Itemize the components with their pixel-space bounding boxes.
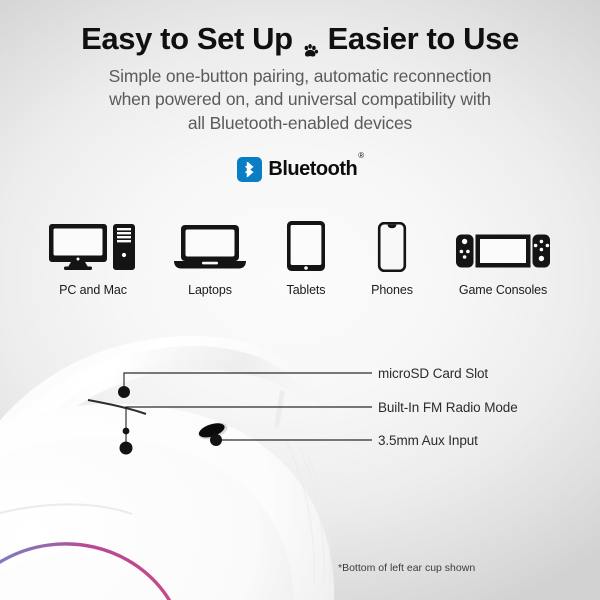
device-item-game-consoles: Game Consoles <box>436 218 570 297</box>
device-item-phones: Phones <box>348 218 436 297</box>
bluetooth-badge: Bluetooth® <box>0 157 600 182</box>
page-title-part-1: Easy to Set Up <box>81 22 292 56</box>
subtitle-line-1: Simple one-button pairing, automatic rec… <box>0 65 600 88</box>
callout-label-aux-input: 3.5mm Aux Input <box>378 433 478 448</box>
bluetooth-icon <box>237 157 262 182</box>
paw-print-icon <box>302 32 319 49</box>
laptop-icon <box>170 218 250 272</box>
desktop-monitor-and-tower-icon <box>47 218 139 272</box>
device-label-laptops: Laptops <box>188 283 232 297</box>
device-label-tablets: Tablets <box>287 283 326 297</box>
callout-label-fm-radio-mode: Built-In FM Radio Mode <box>378 400 518 415</box>
compatible-devices-row: PC and Mac Laptops <box>0 218 600 297</box>
callout-label-microsd-card-slot: microSD Card Slot <box>378 366 488 381</box>
device-label-phones: Phones <box>371 283 413 297</box>
device-item-tablets: Tablets <box>264 218 348 297</box>
product-feature-infographic: Easy to Set Up Easier to Use Simple one-… <box>0 0 600 600</box>
subtitle-line-3: all Bluetooth-enabled devices <box>0 112 600 135</box>
footnote-disclaimer: *Bottom of left ear cup shown <box>338 562 475 574</box>
callout-annotations: microSD Card Slot Built-In FM Radio Mode… <box>0 330 600 600</box>
device-label-pc-and-mac: PC and Mac <box>59 283 127 297</box>
bluetooth-trademark-symbol: ® <box>358 151 363 160</box>
page-title: Easy to Set Up Easier to Use <box>0 22 600 56</box>
device-item-laptops: Laptops <box>156 218 264 297</box>
subtitle-line-2: when powered on, and universal compatibi… <box>0 88 600 111</box>
bluetooth-wordmark-text: Bluetooth <box>268 158 357 180</box>
bluetooth-wordmark: Bluetooth® <box>268 158 362 181</box>
device-item-pc-and-mac: PC and Mac <box>30 218 156 297</box>
tablet-icon <box>285 218 327 272</box>
handheld-game-console-icon <box>455 218 551 272</box>
page-title-part-2: Easier to Use <box>328 22 519 56</box>
device-label-game-consoles: Game Consoles <box>459 283 547 297</box>
smartphone-icon <box>377 218 407 272</box>
page-subtitle: Simple one-button pairing, automatic rec… <box>0 65 600 135</box>
header: Easy to Set Up Easier to Use Simple one-… <box>0 0 600 182</box>
